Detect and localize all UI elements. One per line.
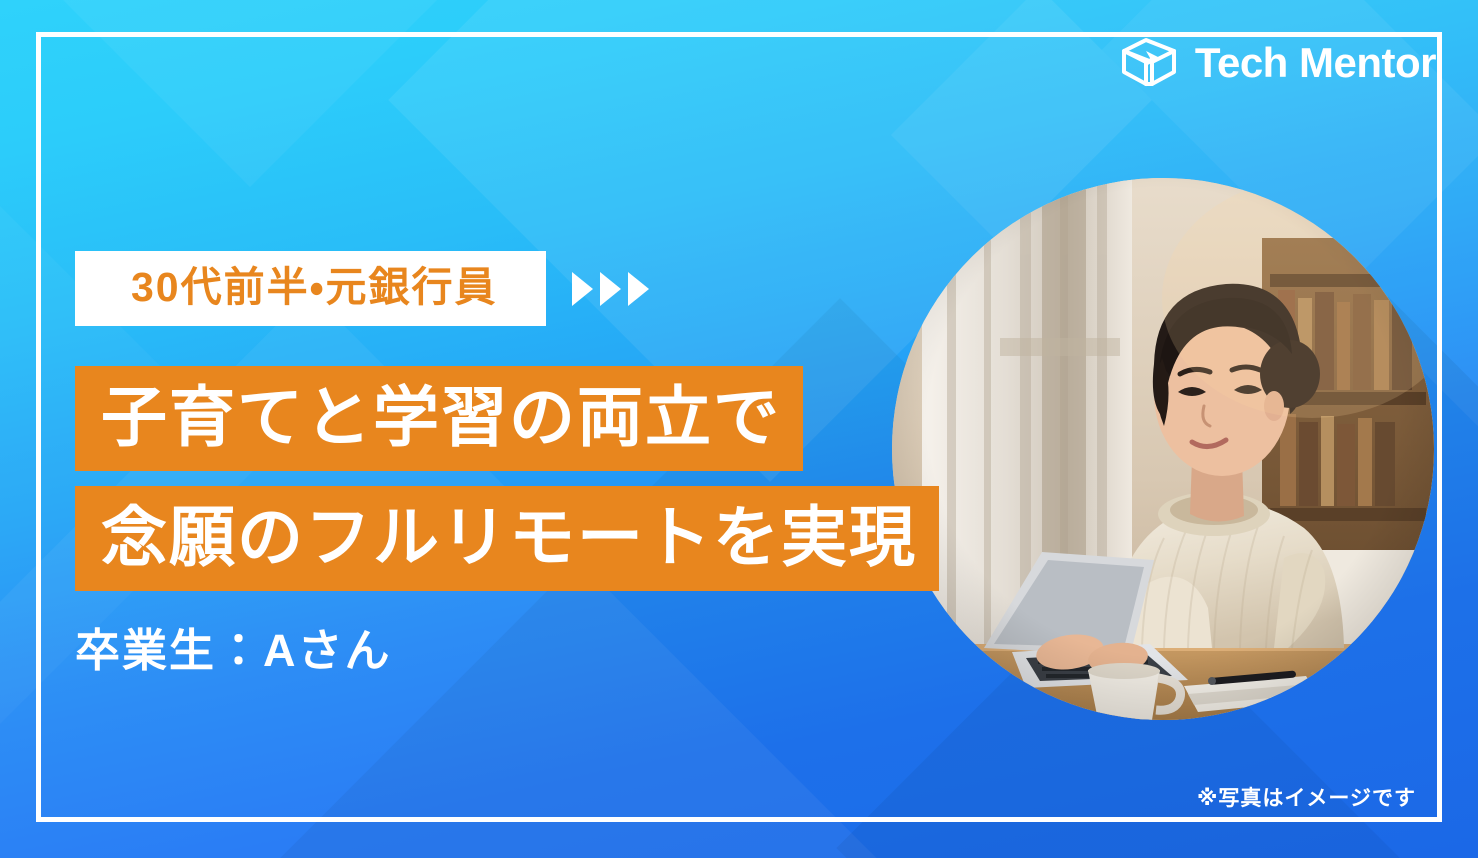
person-at-laptop-photo [892,178,1434,720]
brand-logo[interactable]: Tech Mentor [1116,34,1436,92]
headline-line-1: 子育てと学習の両立で [75,366,803,471]
triangle-right-icon [572,272,593,306]
profile-badge: 30代前半・元銀行員 [75,251,546,326]
brand-name: Tech Mentor [1195,42,1436,84]
headline: 子育てと学習の両立で 念願のフルリモートを実現 [75,366,939,591]
headline-line-2: 念願のフルリモートを実現 [75,486,939,591]
arrow-group [572,272,649,306]
graduate-photo [892,178,1434,720]
badge-row: 30代前半・元銀行員 [75,251,649,326]
graduate-caption: 卒業生：Aさん [75,628,392,673]
promo-banner: Tech Mentor 30代前半・元銀行員 子育てと学習の両立で 念願のフルリ… [0,0,1478,858]
triangle-right-icon [600,272,621,306]
photo-disclaimer: ※写真はイメージです [1197,782,1416,812]
triangle-right-icon [628,272,649,306]
isometric-box-chevron-logo-icon [1116,34,1182,92]
